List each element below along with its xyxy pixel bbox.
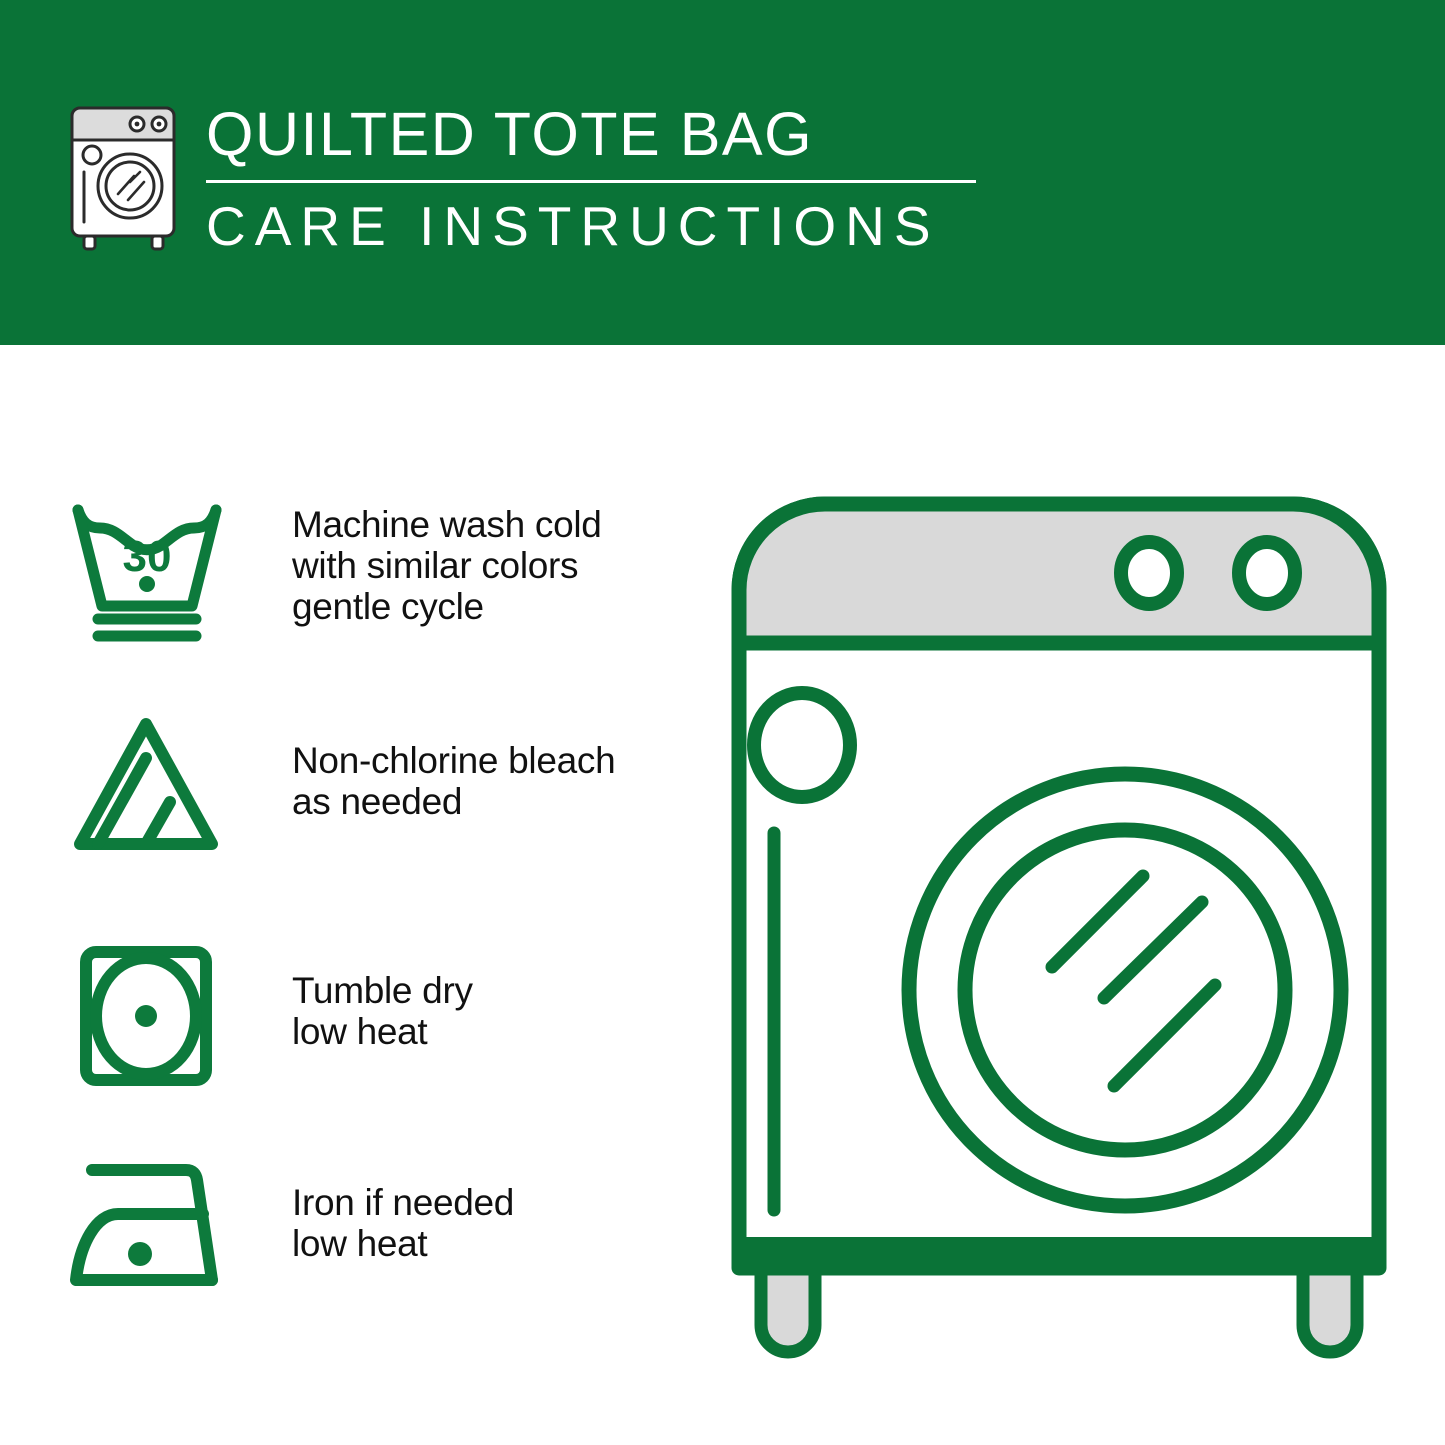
knob-left[interactable] — [1121, 542, 1177, 604]
header-divider — [206, 180, 976, 183]
care-item-tumble-dry: Tumble dry low heat — [62, 936, 702, 1096]
front-load-washing-machine-illustration — [715, 480, 1405, 1370]
small-dial[interactable] — [754, 693, 850, 797]
iron-low-heat-icon — [62, 1148, 232, 1308]
care-text-line: with similar colors — [292, 545, 602, 586]
care-item-text: Machine wash cold with similar colors ge… — [292, 488, 602, 627]
care-text-line: Tumble dry — [292, 970, 473, 1011]
page-subtitle: CARE INSTRUCTIONS — [206, 195, 996, 257]
non-chlorine-bleach-triangle-icon — [62, 706, 232, 866]
knob-right[interactable] — [1239, 542, 1295, 604]
header-text-block: QUILTED TOTE BAG CARE INSTRUCTIONS — [206, 100, 996, 257]
care-item-bleach: Non-chlorine bleach as needed — [62, 706, 702, 866]
care-item-text: Non-chlorine bleach as needed — [292, 706, 615, 822]
care-text-line: low heat — [292, 1011, 473, 1052]
care-item-machine-wash: 30 Machine wash cold with similar colors… — [62, 488, 702, 648]
wash-temperature-label: 30 — [123, 532, 172, 581]
header-banner: QUILTED TOTE BAG CARE INSTRUCTIONS — [0, 0, 1445, 345]
care-text-line: Iron if needed — [292, 1182, 514, 1223]
machine-wash-tub-30-icon: 30 — [62, 488, 232, 648]
drum-inner-circle — [965, 830, 1285, 1150]
page-title: QUILTED TOTE BAG — [206, 100, 996, 168]
dry-heat-dot-icon — [135, 1005, 157, 1027]
care-text-line: low heat — [292, 1223, 514, 1264]
care-text-line: gentle cycle — [292, 586, 602, 627]
care-item-text: Tumble dry low heat — [292, 936, 473, 1052]
tumble-dry-low-heat-icon — [62, 936, 232, 1096]
washing-machine-icon — [64, 104, 182, 252]
care-text-line: Non-chlorine bleach — [292, 740, 615, 781]
care-text-line: as needed — [292, 781, 615, 822]
care-instructions-page: QUILTED TOTE BAG CARE INSTRUCTIONS 30 — [0, 0, 1445, 1445]
care-item-text: Iron if needed low heat — [292, 1148, 514, 1264]
care-item-iron: Iron if needed low heat — [62, 1148, 702, 1308]
iron-heat-dot-icon — [128, 1242, 152, 1266]
care-text-line: Machine wash cold — [292, 504, 602, 545]
wash-dot-icon — [139, 576, 155, 592]
